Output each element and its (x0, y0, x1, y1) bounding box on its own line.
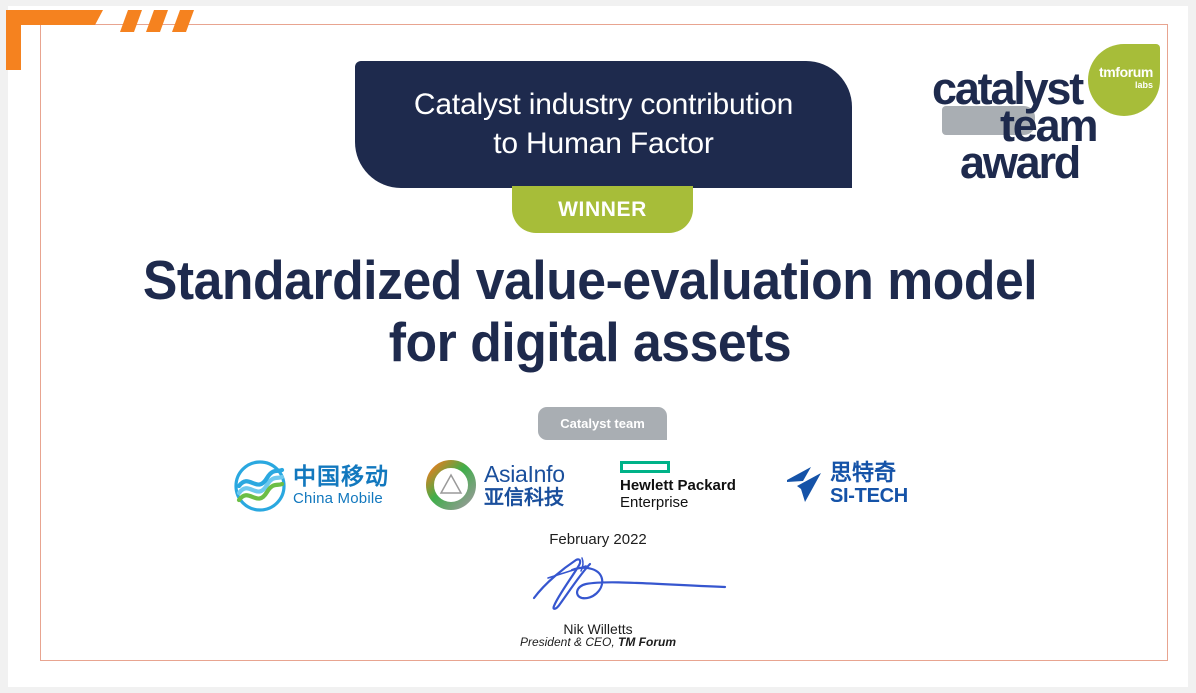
award-category-line-2: to Human Factor (414, 125, 793, 163)
china-mobile-cn-label: 中国移动 (293, 466, 389, 489)
hpe-bar-icon (620, 461, 670, 473)
si-tech-cn-label: 思特奇 (830, 463, 908, 485)
signer-role-text: President & CEO, (520, 635, 618, 649)
award-category-text: Catalyst industry contribution to Human … (390, 86, 817, 162)
asiainfo-ring-icon (425, 459, 477, 511)
asiainfo-wordmark: AsiaInfo 亚信科技 (484, 463, 565, 507)
page-title-line-2: for digital assets (128, 312, 1053, 374)
china-mobile-wave-icon (233, 460, 287, 512)
catalyst-team-badge: Catalyst team (538, 407, 667, 440)
signer-organization: TM Forum (618, 635, 676, 649)
si-tech-en-label: SI-TECH (830, 486, 908, 506)
china-mobile-wordmark: 中国移动 China Mobile (293, 466, 389, 506)
asiainfo-cn-label: 亚信科技 (484, 487, 565, 507)
tmforum-badge-title: tmforum (1097, 64, 1155, 80)
si-tech-swoosh-icon (785, 460, 827, 508)
award-category-line-1: Catalyst industry contribution (414, 86, 793, 124)
award-logo-word-award: award (960, 140, 1079, 185)
page-title: Standardized value-evaluation model for … (128, 250, 1053, 373)
catalyst-team-award-logo: tmforum labs catalyst team award (925, 40, 1160, 180)
partner-logo-row: 中国移动 China Mobile AsiaInfo 亚信科技 (215, 455, 915, 517)
partner-logo-hpe: Hewlett Packard Enterprise (620, 461, 736, 512)
orange-dash-marks-icon (120, 10, 210, 32)
hpe-label-line-2: Enterprise (620, 495, 736, 512)
si-tech-wordmark: 思特奇 SI-TECH (830, 463, 908, 506)
asiainfo-en-label: AsiaInfo (484, 463, 565, 486)
china-mobile-en-label: China Mobile (293, 491, 389, 506)
partner-logo-si-tech: 思特奇 SI-TECH (785, 460, 908, 508)
hpe-label-line-1: Hewlett Packard (620, 478, 736, 495)
winner-badge-label: WINNER (558, 198, 647, 222)
award-category-banner: Catalyst industry contribution to Human … (355, 61, 852, 188)
partner-logo-china-mobile: 中国移动 China Mobile (233, 460, 389, 512)
signer-role: President & CEO, TM Forum (0, 635, 1196, 649)
tmforum-badge-subtitle: labs (1097, 80, 1155, 90)
award-date: February 2022 (0, 531, 1196, 548)
winner-badge: WINNER (512, 186, 693, 233)
partner-logo-asiainfo: AsiaInfo 亚信科技 (425, 459, 565, 511)
signature-icon (520, 552, 735, 614)
page-title-line-1: Standardized value-evaluation model (128, 250, 1053, 312)
certificate-canvas: Catalyst industry contribution to Human … (0, 0, 1196, 693)
catalyst-team-badge-label: Catalyst team (560, 416, 645, 431)
